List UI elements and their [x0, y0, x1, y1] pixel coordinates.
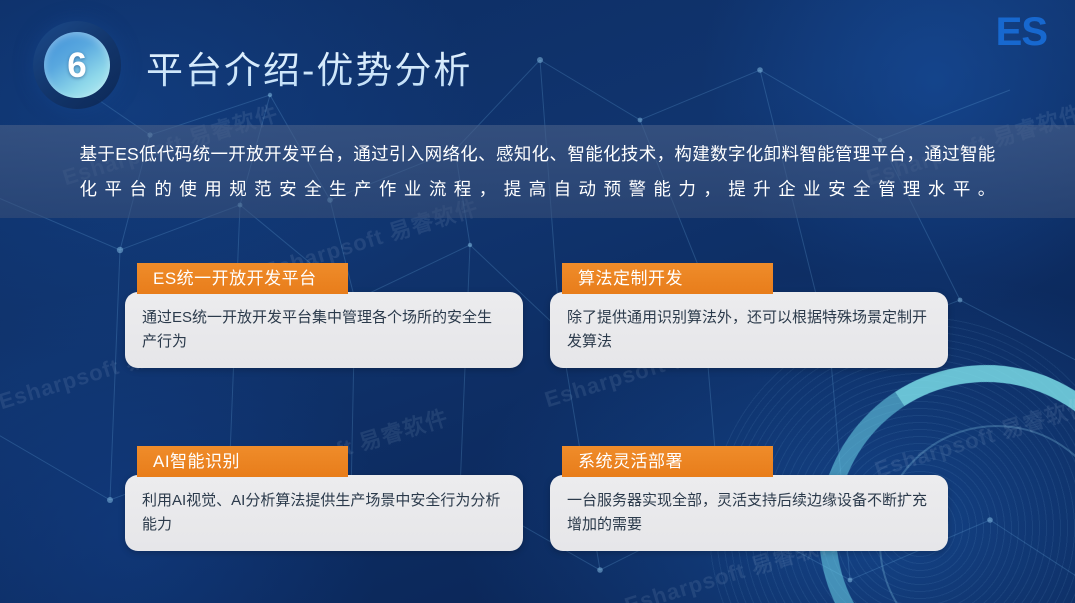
- feature-card-title: 算法定制开发: [562, 263, 773, 294]
- es-logo: ES: [996, 12, 1047, 52]
- feature-card[interactable]: ES统一开放开发平台 通过ES统一开放开发平台集中管理各个场所的安全生产行为: [125, 263, 523, 368]
- slide-number-badge-inner: 6: [44, 32, 110, 98]
- feature-card-title: AI智能识别: [137, 446, 348, 477]
- feature-card[interactable]: 算法定制开发 除了提供通用识别算法外，还可以根据特殊场景定制开发算法: [550, 263, 948, 368]
- feature-card-body: 利用AI视觉、AI分析算法提供生产场景中安全行为分析能力: [125, 475, 523, 551]
- description-banner: 基于ES低代码统一开放开发平台，通过引入网络化、感知化、智能化技术，构建数字化卸…: [0, 125, 1075, 218]
- feature-card-title: ES统一开放开发平台: [137, 263, 348, 294]
- description-text: 基于ES低代码统一开放开发平台，通过引入网络化、感知化、智能化技术，构建数字化卸…: [80, 137, 996, 207]
- feature-card-title: 系统灵活部署: [562, 446, 773, 477]
- feature-card[interactable]: AI智能识别 利用AI视觉、AI分析算法提供生产场景中安全行为分析能力: [125, 446, 523, 551]
- feature-card-body: 除了提供通用识别算法外，还可以根据特殊场景定制开发算法: [550, 292, 948, 368]
- slide-number-badge: 6: [33, 21, 121, 109]
- feature-card-body: 一台服务器实现全部，灵活支持后续边缘设备不断扩充增加的需要: [550, 475, 948, 551]
- page-title: 平台介绍-优势分析: [146, 40, 472, 94]
- slide-number-text: 6: [67, 48, 86, 83]
- slide-header: 6 平台介绍-优势分析 ES: [0, 0, 1075, 125]
- feature-card[interactable]: 系统灵活部署 一台服务器实现全部，灵活支持后续边缘设备不断扩充增加的需要: [550, 446, 948, 551]
- feature-card-body: 通过ES统一开放开发平台集中管理各个场所的安全生产行为: [125, 292, 523, 368]
- slide-root: Esharpsoft 易睿软件 Esharpsoft 易睿软件 Esharpso…: [0, 0, 1075, 603]
